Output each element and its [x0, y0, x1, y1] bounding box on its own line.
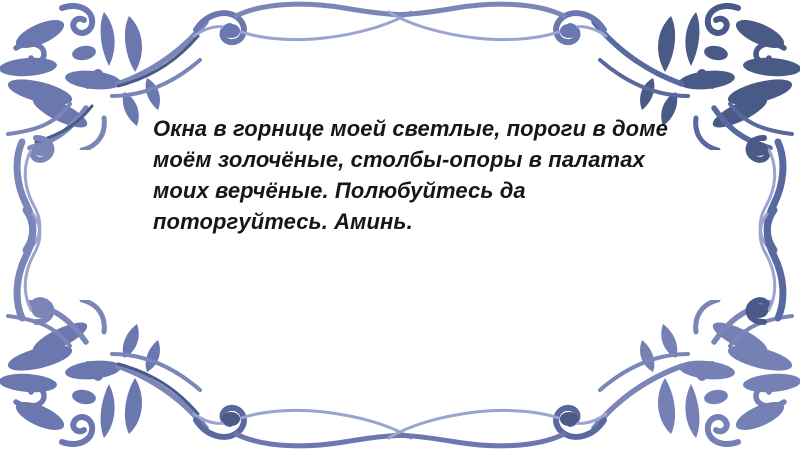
edge-scroll-top-left-icon — [192, 0, 412, 60]
edge-tendril-right-lower-icon — [730, 198, 800, 328]
edge-scroll-top-right-icon — [388, 0, 608, 60]
edge-tendril-right-upper-icon — [730, 132, 800, 262]
edge-scroll-bottom-left-icon — [192, 390, 412, 450]
corner-flourish-bottom-left-icon — [0, 300, 210, 450]
edge-scroll-bottom-right-icon — [388, 390, 608, 450]
quote-card: Окна в горнице моей светлые, пороги в до… — [0, 0, 800, 450]
quote-text: Окна в горнице моей светлые, пороги в до… — [153, 113, 675, 237]
edge-tendril-left-lower-icon — [0, 198, 70, 328]
edge-tendril-left-upper-icon — [0, 132, 70, 262]
corner-flourish-bottom-right-icon — [590, 300, 800, 450]
